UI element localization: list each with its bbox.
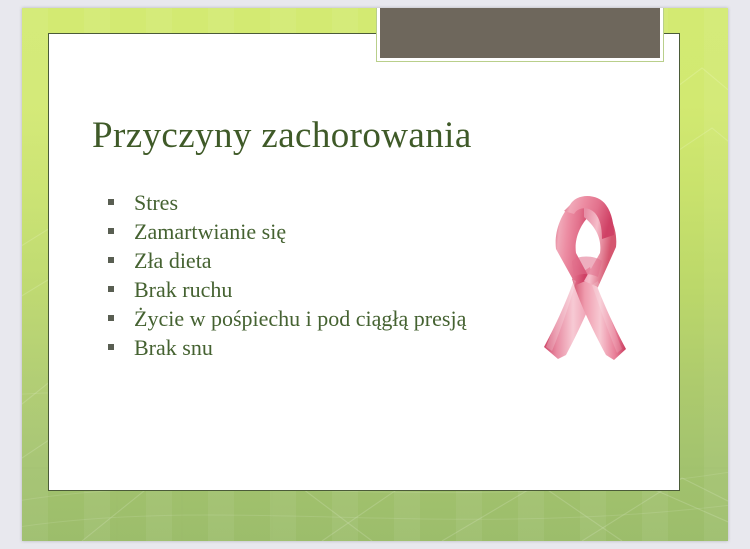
square-bullet-icon bbox=[108, 286, 114, 292]
bullet-list-item: Zła dieta bbox=[108, 246, 508, 275]
bullet-item-label: Zła dieta bbox=[134, 246, 508, 275]
bullet-list-item: Zamartwianie się bbox=[108, 217, 508, 246]
bullet-list-item: Życie w pośpiechu i pod ciągłą presją bbox=[108, 304, 508, 333]
square-bullet-icon bbox=[108, 257, 114, 263]
bullet-list-item: Brak snu bbox=[108, 333, 508, 362]
slide-bullet-list: Stres Zamartwianie się Zła dieta Brak ru… bbox=[108, 188, 508, 362]
square-bullet-icon bbox=[108, 228, 114, 234]
bullet-item-label: Brak snu bbox=[134, 333, 508, 362]
bullet-item-label: Brak ruchu bbox=[134, 275, 508, 304]
slide-title: Przyczyny zachorowania bbox=[92, 113, 632, 159]
square-bullet-icon bbox=[108, 344, 114, 350]
pink-awareness-ribbon-icon bbox=[528, 181, 646, 373]
square-bullet-icon bbox=[108, 315, 114, 321]
bullet-item-label: Zamartwianie się bbox=[134, 217, 508, 246]
bullet-item-label: Stres bbox=[134, 188, 508, 217]
header-accent-fill bbox=[380, 8, 660, 58]
bullet-list-item: Brak ruchu bbox=[108, 275, 508, 304]
presentation-slide: Przyczyny zachorowania Stres Zamartwiani… bbox=[22, 8, 728, 541]
header-accent-block bbox=[376, 8, 664, 62]
square-bullet-icon bbox=[108, 199, 114, 205]
bullet-list-item: Stres bbox=[108, 188, 508, 217]
bullet-item-label: Życie w pośpiechu i pod ciągłą presją bbox=[134, 304, 508, 333]
